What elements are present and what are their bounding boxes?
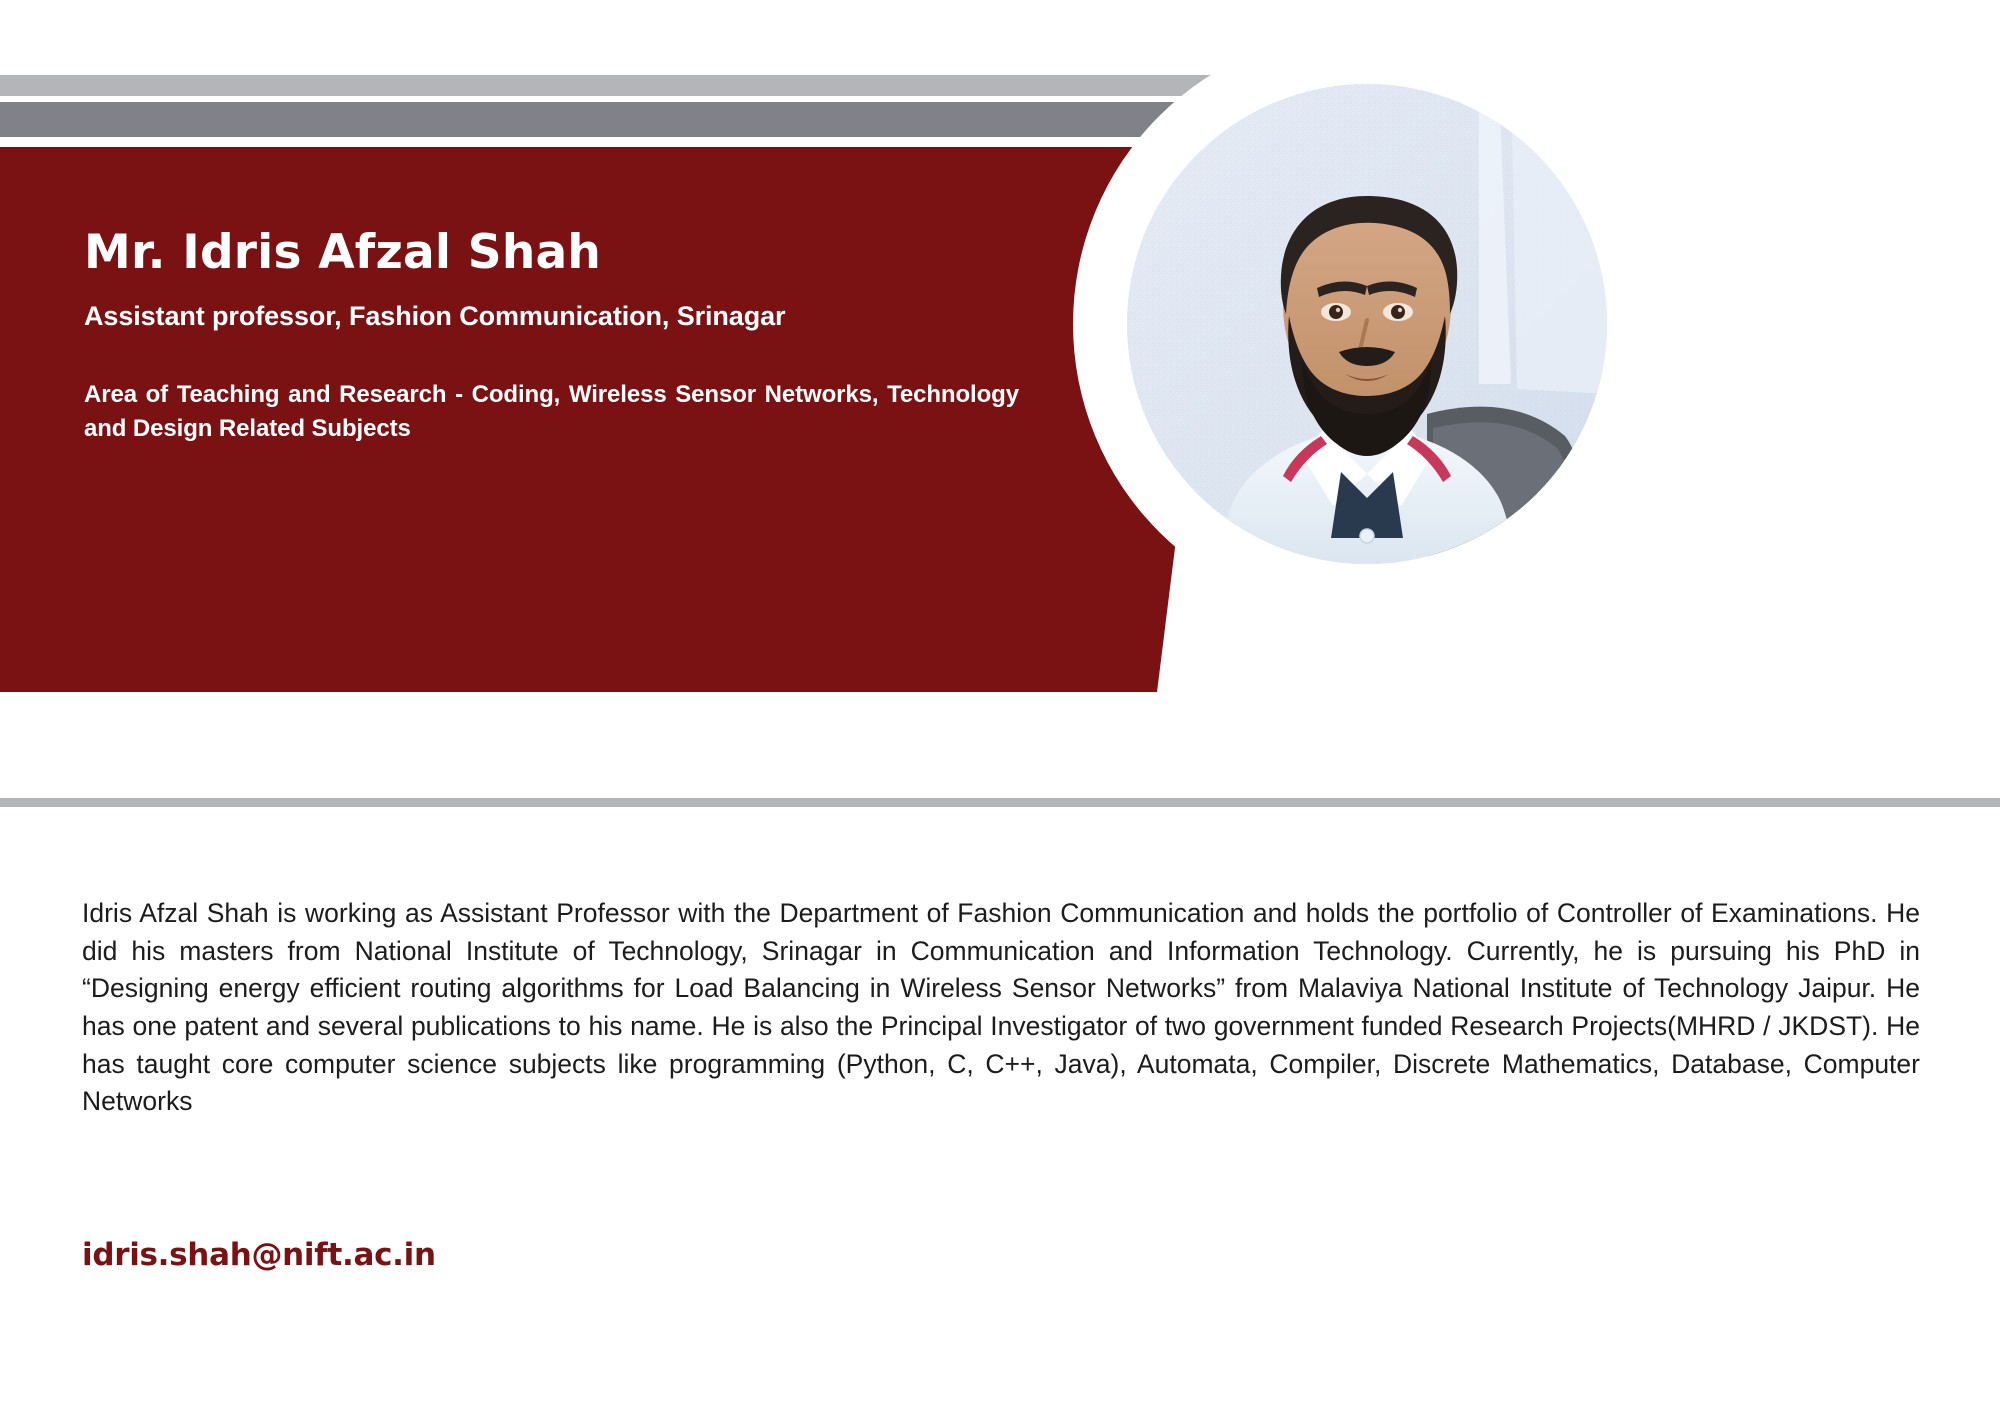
- page-title: Mr. Idris Afzal Shah: [84, 227, 1014, 279]
- faculty-profile-card: Mr. Idris Afzal Shah Assistant professor…: [0, 0, 2000, 1414]
- avatar: [1073, 30, 1661, 618]
- header-red-panel: Mr. Idris Afzal Shah Assistant professor…: [0, 147, 1225, 692]
- area-of-teaching-text: Area of Teaching and Research - Coding, …: [84, 378, 1019, 446]
- decorative-stripe-dark: [0, 102, 1240, 137]
- designation-text: Assistant professor, Fashion Communicati…: [84, 301, 1014, 332]
- header-text-block: Mr. Idris Afzal Shah Assistant professor…: [84, 227, 1014, 446]
- section-divider: [0, 798, 2000, 807]
- portrait-photo: [1127, 84, 1607, 564]
- email-link[interactable]: idris.shah@nift.ac.in: [82, 1237, 436, 1273]
- portrait-illustration: [1127, 84, 1607, 564]
- decorative-stripe-light: [0, 75, 1256, 96]
- biography-text: Idris Afzal Shah is working as Assistant…: [82, 895, 1920, 1121]
